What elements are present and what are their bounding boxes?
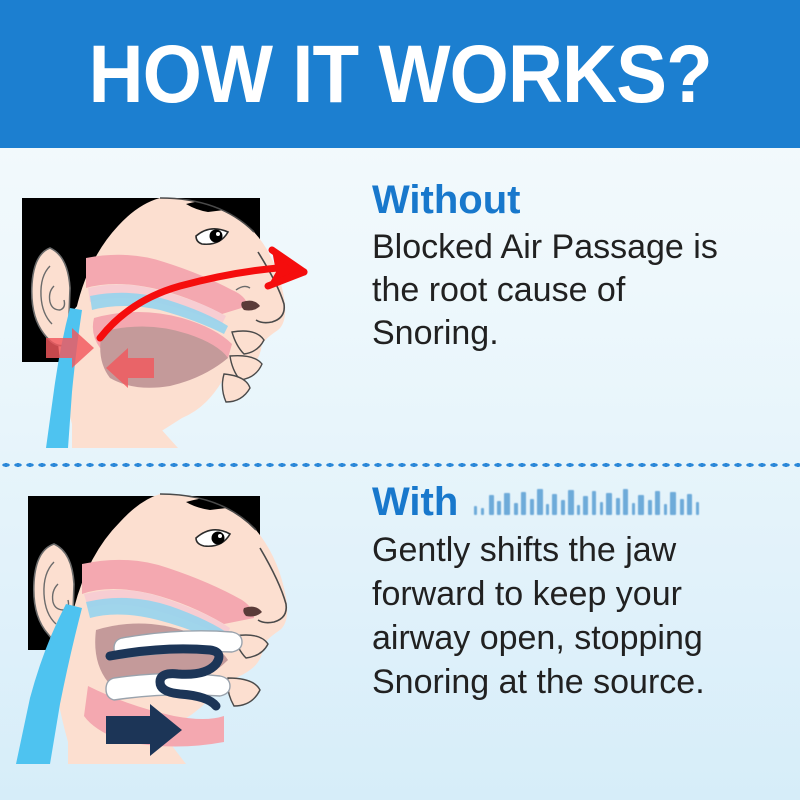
section-heading-with: With [372,480,754,524]
text-without: Without Blocked Air Passage is the root … [360,178,800,355]
obscured-brand-wordmark [472,485,704,517]
illustration-blocked-airway [10,192,320,454]
dotted-divider [0,462,800,468]
section-heading-without: Without [372,178,754,222]
text-with: With [360,480,800,704]
figure-with [0,480,360,770]
page-title: HOW IT WORKS? [88,34,711,116]
section-body-with: Gently shifts the jaw forward to keep yo… [372,528,754,704]
figure-without [0,178,360,458]
header-banner: HOW IT WORKS? [0,0,800,148]
section-without: Without Blocked Air Passage is the root … [0,178,800,458]
illustration-open-airway-mouthpiece [10,490,320,768]
section-heading-label: Without [372,178,520,222]
section-with: With [0,480,800,770]
infographic-page: HOW IT WORKS? [0,0,800,800]
section-heading-label: With [372,480,458,524]
section-body-without: Blocked Air Passage is the root cause of… [372,226,754,355]
